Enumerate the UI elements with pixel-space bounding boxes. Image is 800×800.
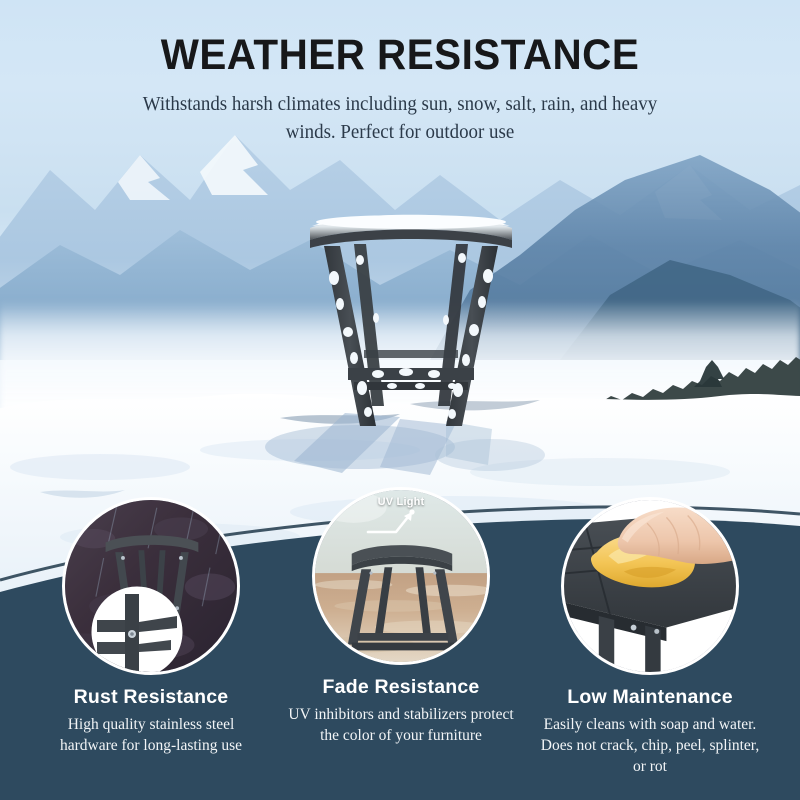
feature-description: Easily cleans with soap and water. Does …	[524, 715, 776, 778]
feature-item-rust-resistance: Rust Resistance High quality stainless s…	[25, 497, 277, 757]
feature-description: UV inhibitors and stabilizers protect th…	[275, 705, 527, 747]
feature-item-low-maintenance: Low Maintenance Easily cleans with soap …	[524, 497, 776, 778]
magnifier-inset-hardware	[91, 586, 183, 675]
feature-image-rust-resistance	[62, 497, 240, 675]
uv-light-annotation: UV Light	[378, 496, 425, 508]
feature-description: High quality stainless steel hardware fo…	[25, 715, 277, 757]
feature-list: Rust Resistance High quality stainless s…	[0, 0, 800, 800]
feature-image-fade-resistance: UV Light	[312, 487, 490, 665]
feature-image-low-maintenance	[561, 497, 739, 675]
feature-title: Fade Resistance	[275, 677, 527, 698]
feature-title: Rust Resistance	[25, 687, 277, 708]
weather-resistance-infographic: WEATHER RESISTANCE Withstands harsh clim…	[0, 0, 800, 800]
uv-arrow-icon	[366, 508, 436, 542]
feature-item-fade-resistance: UV Light Fade Resistance UV inhibitors a…	[275, 487, 527, 747]
cleaning-hand-photo	[564, 500, 736, 672]
feature-title: Low Maintenance	[524, 687, 776, 708]
